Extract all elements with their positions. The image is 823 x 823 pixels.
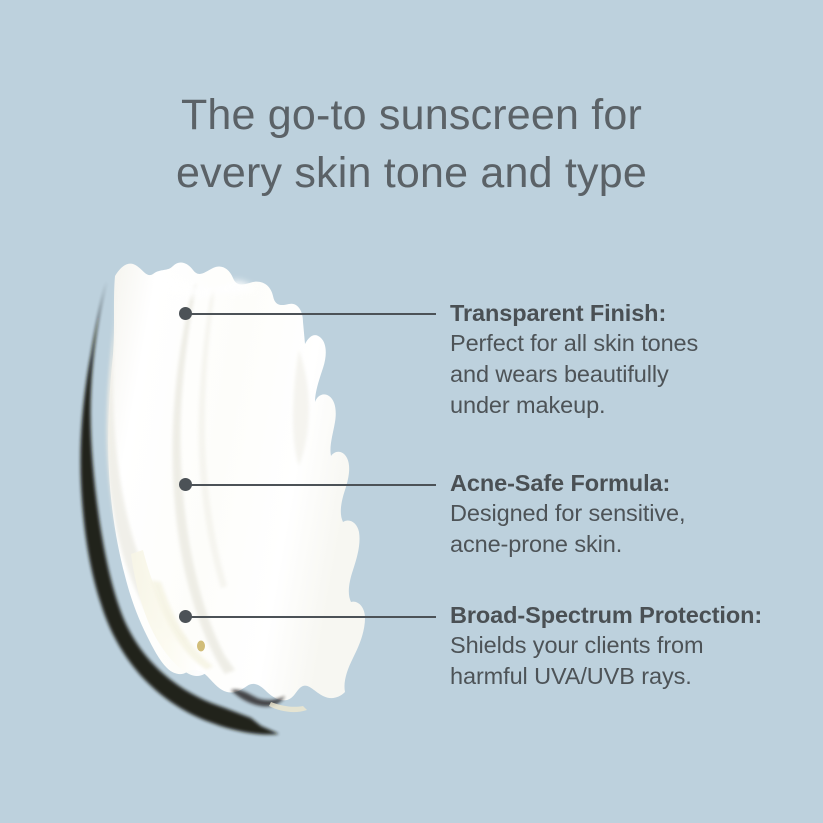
callout-title-2: Acne-Safe Formula: <box>450 468 780 498</box>
cream-swatch-graphic <box>55 250 385 750</box>
callout-block-2: Acne-Safe Formula: Designed for sensitiv… <box>450 468 780 560</box>
callout-body-1-line-3: under makeup. <box>450 390 780 421</box>
callout-title-1: Transparent Finish: <box>450 298 780 328</box>
callout-body-2-line-1: Designed for sensitive, <box>450 498 780 529</box>
callout-title-3-line-1: Broad-Spectrum <box>450 602 633 628</box>
page-title: The go-to sunscreen for every skin tone … <box>0 86 823 202</box>
callout-title-3: Broad-Spectrum Protection: <box>450 600 780 630</box>
callout-body-3-line-2: harmful UVA/UVB rays. <box>450 661 780 692</box>
callout-body-1-line-1: Perfect for all skin tones <box>450 328 780 359</box>
headline-line-2: every skin tone and type <box>0 144 823 202</box>
callout-block-1: Transparent Finish: Perfect for all skin… <box>450 298 780 421</box>
callout-leader-line-2 <box>190 484 436 486</box>
callout-body-3: Shields your clients from harmful UVA/UV… <box>450 630 780 692</box>
headline-line-1: The go-to sunscreen for <box>0 86 823 144</box>
callout-leader-line-3 <box>190 616 436 618</box>
callout-body-1: Perfect for all skin tones and wears bea… <box>450 328 780 421</box>
callout-body-2: Designed for sensitive, acne-prone skin. <box>450 498 780 560</box>
sunscreen-cream-swatch <box>55 250 385 750</box>
callout-body-1-line-2: and wears beautifully <box>450 359 780 390</box>
cream-tail-edge <box>269 702 307 712</box>
cream-amber-speck <box>197 641 205 652</box>
callout-leader-line-1 <box>190 313 436 315</box>
callout-body-2-line-2: acne-prone skin. <box>450 529 780 560</box>
callout-body-3-line-1: Shields your clients from <box>450 630 780 661</box>
cream-body <box>108 263 365 701</box>
callout-block-3: Broad-Spectrum Protection: Shields your … <box>450 600 780 692</box>
promo-card: The go-to sunscreen for every skin tone … <box>0 0 823 823</box>
callout-title-3-line-2: Protection: <box>639 602 762 628</box>
